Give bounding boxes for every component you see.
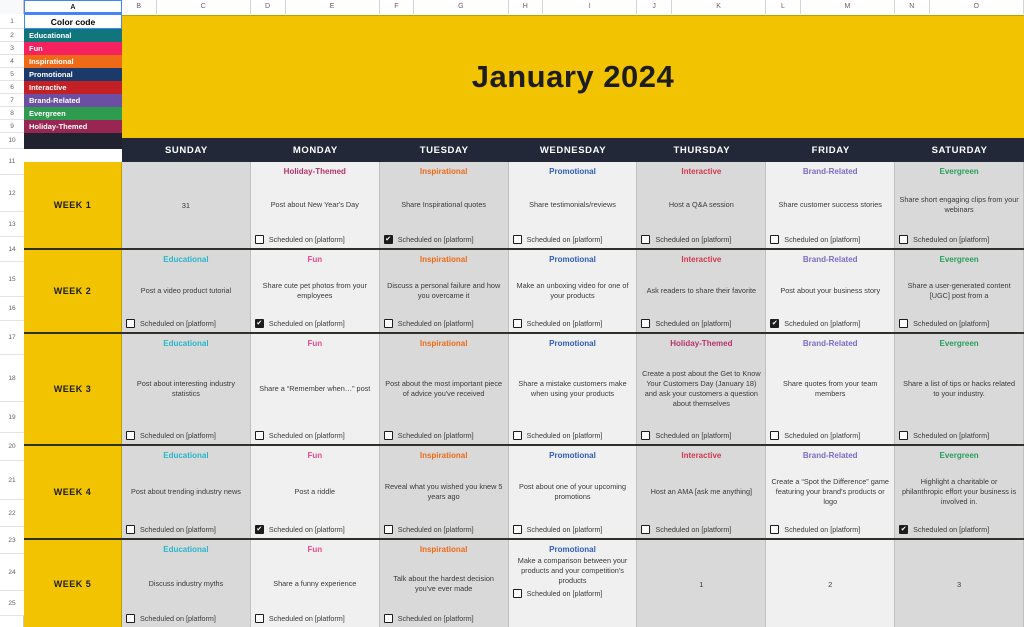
category-label: Holiday-Themed [641, 339, 761, 348]
row-number-19[interactable]: 19 [0, 402, 24, 433]
category-label: Fun [255, 255, 375, 264]
scheduled-row: Scheduled on [platform] [384, 431, 504, 440]
task-description: Share a list of tips or hacks related to… [899, 379, 1019, 399]
calendar-body: WEEK 131Holiday-ThemedPost about New Yea… [24, 162, 1024, 627]
task-description-wrap: Host a Q&A session [641, 178, 761, 232]
scheduled-checkbox[interactable] [255, 614, 264, 623]
day-cell[interactable]: InspirationalReveal what you wished you … [380, 446, 509, 538]
week-label-1[interactable]: WEEK 1 [24, 162, 122, 248]
scheduled-checkbox[interactable] [770, 525, 779, 534]
week-days: EducationalPost a video product tutorial… [122, 250, 1024, 332]
row-number-22[interactable]: 22 [0, 500, 24, 527]
task-description-wrap: Share a mistake customers make when usin… [513, 350, 633, 428]
task-description-wrap: Post about your business story [770, 266, 890, 316]
day-cell[interactable]: InteractiveAsk readers to share their fa… [637, 250, 766, 332]
scheduled-label: Scheduled on [platform] [398, 525, 474, 534]
row-number-8[interactable]: 8 [0, 107, 24, 120]
week-row: WEEK 131Holiday-ThemedPost about New Yea… [24, 162, 1024, 250]
category-label: Promotional [513, 339, 633, 348]
scheduled-label: Scheduled on [platform] [784, 235, 860, 244]
scheduled-checkbox[interactable] [513, 525, 522, 534]
week-row: WEEK 4EducationalPost about trending ind… [24, 446, 1024, 540]
weekday-header-wednesday: WEDNESDAY [509, 138, 638, 162]
category-label: Holiday-Themed [255, 167, 375, 176]
task-description: Share a user-generated content [UGC] pos… [899, 281, 1019, 301]
scheduled-row: Scheduled on [platform] [641, 525, 761, 534]
column-header-l[interactable]: L [766, 0, 801, 14]
category-label: Interactive [641, 255, 761, 264]
scheduled-label: Scheduled on [platform] [140, 525, 216, 534]
scheduled-label: Scheduled on [platform] [269, 525, 345, 534]
scheduled-checkbox[interactable] [513, 319, 522, 328]
row-number-9[interactable]: 9 [0, 120, 24, 133]
scheduled-row: Scheduled on [platform] [641, 319, 761, 328]
legend-item-fun[interactable]: Fun [24, 42, 122, 55]
column-header-c[interactable]: C [157, 0, 251, 14]
scheduled-label: Scheduled on [platform] [269, 614, 345, 623]
scheduled-checkbox[interactable] [770, 431, 779, 440]
task-description: Reveal what you wished you knew 5 years … [384, 482, 504, 502]
scheduled-label: Scheduled on [platform] [140, 614, 216, 623]
category-label: Inspirational [384, 451, 504, 460]
column-header-e[interactable]: E [286, 0, 380, 14]
scheduled-label: Scheduled on [platform] [398, 319, 474, 328]
category-label: Inspirational [384, 339, 504, 348]
day-cell[interactable]: FunPost a riddleScheduled on [platform] [251, 446, 380, 538]
task-description: Host a Q&A session [669, 200, 734, 210]
row-number-12[interactable]: 12 [0, 175, 24, 212]
task-description-wrap: Make a comparison between your products … [513, 556, 633, 586]
scheduled-label: Scheduled on [platform] [784, 431, 860, 440]
scheduled-checkbox[interactable] [255, 235, 264, 244]
task-description: Post about interesting industry statisti… [126, 379, 246, 399]
legend-item-evergreen[interactable]: Evergreen [24, 107, 122, 120]
weekday-header-monday: MONDAY [251, 138, 380, 162]
task-description: Make an unboxing video for one of your p… [513, 281, 633, 301]
task-description: Share a funny experience [273, 579, 356, 589]
scheduled-label: Scheduled on [platform] [913, 431, 989, 440]
row-number-5[interactable]: 5 [0, 68, 24, 81]
scheduled-label: Scheduled on [platform] [398, 431, 474, 440]
task-description-wrap: Share cute pet photos from your employee… [255, 266, 375, 316]
scheduled-checkbox[interactable] [641, 431, 650, 440]
day-cell[interactable]: PromotionalPost about one of your upcomi… [509, 446, 638, 538]
day-cell[interactable]: EducationalDiscuss industry mythsSchedul… [122, 540, 251, 627]
task-description: Post about one of your upcoming promotio… [513, 482, 633, 502]
weekday-header-row: SUNDAYMONDAYTUESDAYWEDNESDAYTHURSDAYFRID… [122, 138, 1024, 162]
category-label: Evergreen [899, 451, 1019, 460]
task-description-wrap: Post about interesting industry statisti… [126, 350, 246, 428]
task-description: Host an AMA [ask me anything] [651, 487, 752, 497]
column-header-n[interactable]: N [895, 0, 930, 14]
row-number-gutter[interactable]: 1234567891011121314151617181920212223242… [0, 14, 24, 627]
week-days: 31Holiday-ThemedPost about New Year's Da… [122, 162, 1024, 248]
scheduled-label: Scheduled on [platform] [140, 431, 216, 440]
day-cell[interactable]: PromotionalMake an unboxing video for on… [509, 250, 638, 332]
scheduled-checkbox[interactable] [513, 431, 522, 440]
scheduled-checkbox[interactable] [384, 319, 393, 328]
task-description-wrap: Share quotes from your team members [770, 350, 890, 428]
row-number-25[interactable]: 25 [0, 591, 24, 616]
task-description-wrap: Post a riddle [255, 462, 375, 522]
scheduled-checkbox[interactable] [255, 431, 264, 440]
scheduled-row: Scheduled on [platform] [770, 235, 890, 244]
task-description-wrap: Talk about the hardest decision you've e… [384, 556, 504, 611]
category-label: Interactive [641, 167, 761, 176]
scheduled-row: Scheduled on [platform] [513, 589, 633, 598]
day-cell[interactable]: 31 [122, 162, 251, 248]
task-description: Post about New Year's Day [271, 200, 359, 210]
scheduled-row: Scheduled on [platform] [513, 235, 633, 244]
column-header-b[interactable]: B [122, 0, 157, 14]
scheduled-label: Scheduled on [platform] [655, 525, 731, 534]
category-label: Promotional [513, 255, 633, 264]
task-description: Post a video product tutorial [141, 286, 231, 296]
row-number-4[interactable]: 4 [0, 55, 24, 68]
day-cell[interactable]: 2 [766, 540, 895, 627]
day-cell[interactable]: 3 [895, 540, 1024, 627]
task-description: Share testimonials/reviews [529, 200, 616, 210]
scheduled-checkbox[interactable] [513, 589, 522, 598]
scheduled-checkbox[interactable] [384, 525, 393, 534]
scheduled-row: Scheduled on [platform] [899, 235, 1019, 244]
scheduled-row: Scheduled on [platform] [255, 614, 375, 623]
category-label: Brand-Related [770, 451, 890, 460]
weekday-header-tuesday: TUESDAY [380, 138, 509, 162]
scheduled-row: Scheduled on [platform] [770, 525, 890, 534]
scheduled-row: Scheduled on [platform] [899, 319, 1019, 328]
weekday-header-saturday: SATURDAY [895, 138, 1024, 162]
row-number-17[interactable]: 17 [0, 321, 24, 355]
task-description: Post about your business story [780, 286, 880, 296]
task-description: Share cute pet photos from your employee… [255, 281, 375, 301]
day-cell[interactable]: InteractiveHost an AMA [ask me anything]… [637, 446, 766, 538]
scheduled-row: Scheduled on [platform] [770, 319, 890, 328]
row-number-14[interactable]: 14 [0, 237, 24, 262]
scheduled-label: Scheduled on [platform] [527, 431, 603, 440]
day-number: 2 [770, 545, 890, 623]
row-number-2[interactable]: 2 [0, 29, 24, 42]
scheduled-row: Scheduled on [platform] [384, 319, 504, 328]
day-cell[interactable]: EvergreenShare a user-generated content … [895, 250, 1024, 332]
scheduled-checkbox[interactable] [770, 235, 779, 244]
scheduled-checkbox[interactable] [384, 235, 393, 244]
scheduled-checkbox[interactable] [384, 431, 393, 440]
scheduled-label: Scheduled on [platform] [655, 431, 731, 440]
day-cell[interactable]: PromotionalMake a comparison between you… [509, 540, 638, 627]
row-number-20[interactable]: 20 [0, 433, 24, 461]
scheduled-row: Scheduled on [platform] [899, 525, 1019, 534]
color-code-legend: Color code EducationalFunInspirationalPr… [24, 14, 122, 149]
scheduled-label: Scheduled on [platform] [269, 319, 345, 328]
day-cell[interactable]: Holiday-ThemedPost about New Year's DayS… [251, 162, 380, 248]
category-label: Evergreen [899, 167, 1019, 176]
task-description-wrap: Post about one of your upcoming promotio… [513, 462, 633, 522]
scheduled-checkbox[interactable] [384, 614, 393, 623]
select-all-corner[interactable] [0, 0, 24, 14]
day-number: 1 [641, 545, 761, 623]
task-description-wrap: Create a post about the Get to Know Your… [641, 350, 761, 428]
task-description: Ask readers to share their favorite [647, 286, 757, 296]
week-row: WEEK 5EducationalDiscuss industry mythsS… [24, 540, 1024, 627]
scheduled-label: Scheduled on [platform] [913, 525, 989, 534]
scheduled-label: Scheduled on [platform] [269, 235, 345, 244]
legend-title-cell[interactable]: Color code [24, 14, 122, 29]
scheduled-row: Scheduled on [platform] [384, 614, 504, 623]
scheduled-row: Scheduled on [platform] [126, 431, 246, 440]
legend-item-holiday-themed[interactable]: Holiday-Themed [24, 120, 122, 133]
task-description: Discuss industry myths [149, 579, 224, 589]
legend-item-promotional[interactable]: Promotional [24, 68, 122, 81]
scheduled-checkbox[interactable] [126, 319, 135, 328]
task-description: Share customer success stories [779, 200, 882, 210]
column-header-f[interactable]: F [380, 0, 415, 14]
scheduled-label: Scheduled on [platform] [784, 525, 860, 534]
row-number-6[interactable]: 6 [0, 81, 24, 94]
day-cell[interactable]: PromotionalShare testimonials/reviewsSch… [509, 162, 638, 248]
scheduled-checkbox[interactable] [899, 525, 908, 534]
week-label-2[interactable]: WEEK 2 [24, 250, 122, 332]
scheduled-row: Scheduled on [platform] [126, 614, 246, 623]
row-number-16[interactable]: 16 [0, 297, 24, 321]
day-cell[interactable]: PromotionalShare a mistake customers mak… [509, 334, 638, 444]
task-description-wrap: Share a “Remember when…” post [255, 350, 375, 428]
scheduled-row: Scheduled on [platform] [255, 235, 375, 244]
legend-item-interactive[interactable]: Interactive [24, 81, 122, 94]
category-label: Inspirational [384, 545, 504, 554]
task-description: Create a “Spot the Difference” game feat… [770, 477, 890, 507]
day-cell[interactable]: EvergreenHighlight a charitable or phila… [895, 446, 1024, 538]
spreadsheet-content-calendar: ABCDEFGHIJKLMNO 123456789101112131415161… [0, 0, 1024, 627]
task-description-wrap: Reveal what you wished you knew 5 years … [384, 462, 504, 522]
day-cell[interactable]: InspirationalPost about the most importa… [380, 334, 509, 444]
scheduled-row: Scheduled on [platform] [641, 431, 761, 440]
scheduled-label: Scheduled on [platform] [913, 319, 989, 328]
category-label: Fun [255, 545, 375, 554]
column-header-m[interactable]: M [801, 0, 895, 14]
row-number-24[interactable]: 24 [0, 554, 24, 591]
task-description: Share a “Remember when…” post [259, 384, 370, 394]
category-label: Educational [126, 255, 246, 264]
day-cell[interactable]: Holiday-ThemedCreate a post about the Ge… [637, 334, 766, 444]
category-label: Brand-Related [770, 339, 890, 348]
scheduled-label: Scheduled on [platform] [655, 319, 731, 328]
task-description-wrap: Post a video product tutorial [126, 266, 246, 316]
task-description: Post a riddle [295, 487, 336, 497]
task-description-wrap: Share a funny experience [255, 556, 375, 611]
scheduled-label: Scheduled on [platform] [527, 319, 603, 328]
day-cell[interactable]: EvergreenShare a list of tips or hacks r… [895, 334, 1024, 444]
row-number-10[interactable]: 10 [0, 133, 24, 149]
category-label: Educational [126, 545, 246, 554]
scheduled-row: Scheduled on [platform] [384, 525, 504, 534]
category-label: Fun [255, 451, 375, 460]
day-cell[interactable]: EducationalPost about interesting indust… [122, 334, 251, 444]
task-description-wrap: Share short engaging clips from your web… [899, 178, 1019, 232]
task-description-wrap: Make an unboxing video for one of your p… [513, 266, 633, 316]
week-label-4[interactable]: WEEK 4 [24, 446, 122, 538]
task-description-wrap: Post about trending industry news [126, 462, 246, 522]
scheduled-label: Scheduled on [platform] [527, 235, 603, 244]
task-description-wrap: Create a “Spot the Difference” game feat… [770, 462, 890, 522]
column-header-j[interactable]: J [637, 0, 672, 14]
scheduled-checkbox[interactable] [641, 525, 650, 534]
task-description-wrap: Discuss a personal failure and how you o… [384, 266, 504, 316]
scheduled-checkbox[interactable] [126, 525, 135, 534]
day-cell[interactable]: EducationalPost a video product tutorial… [122, 250, 251, 332]
scheduled-row: Scheduled on [platform] [513, 525, 633, 534]
row-number-3[interactable]: 3 [0, 42, 24, 55]
column-header-o[interactable]: O [930, 0, 1024, 14]
task-description-wrap: Share a list of tips or hacks related to… [899, 350, 1019, 428]
task-description-wrap: Ask readers to share their favorite [641, 266, 761, 316]
task-description: Share short engaging clips from your web… [899, 195, 1019, 215]
column-header-h[interactable]: H [509, 0, 544, 14]
column-header-k[interactable]: K [672, 0, 766, 14]
day-cell[interactable]: EducationalPost about trending industry … [122, 446, 251, 538]
day-cell[interactable]: InspirationalShare Inspirational quotesS… [380, 162, 509, 248]
row-number-18[interactable]: 18 [0, 355, 24, 402]
scheduled-checkbox[interactable] [899, 235, 908, 244]
task-description: Share Inspirational quotes [401, 200, 486, 210]
category-label: Brand-Related [770, 167, 890, 176]
day-number: 3 [899, 545, 1019, 623]
day-cell[interactable]: Brand-RelatedCreate a “Spot the Differen… [766, 446, 895, 538]
day-cell[interactable]: FunShare cute pet photos from your emplo… [251, 250, 380, 332]
scheduled-label: Scheduled on [platform] [140, 319, 216, 328]
day-cell[interactable]: InteractiveHost a Q&A sessionScheduled o… [637, 162, 766, 248]
legend-item-inspirational[interactable]: Inspirational [24, 55, 122, 68]
row-number-1[interactable]: 1 [0, 14, 24, 29]
task-description: Talk about the hardest decision you've e… [384, 574, 504, 594]
scheduled-label: Scheduled on [platform] [655, 235, 731, 244]
weekday-header-friday: FRIDAY [766, 138, 895, 162]
day-cell[interactable]: InspirationalTalk about the hardest deci… [380, 540, 509, 627]
task-description-wrap: Share customer success stories [770, 178, 890, 232]
week-label-3[interactable]: WEEK 3 [24, 334, 122, 444]
category-label: Fun [255, 339, 375, 348]
legend-item-brand-related[interactable]: Brand-Related [24, 94, 122, 107]
legend-item-educational[interactable]: Educational [24, 29, 122, 42]
category-label: Promotional [513, 167, 633, 176]
scheduled-label: Scheduled on [platform] [527, 589, 603, 598]
scheduled-checkbox[interactable] [255, 525, 264, 534]
row-number-13[interactable]: 13 [0, 212, 24, 237]
column-header-a[interactable]: A [24, 0, 122, 14]
scheduled-checkbox[interactable] [899, 431, 908, 440]
scheduled-checkbox[interactable] [126, 431, 135, 440]
day-cell[interactable]: EvergreenShare short engaging clips from… [895, 162, 1024, 248]
scheduled-row: Scheduled on [platform] [126, 525, 246, 534]
legend-filler-cell [24, 133, 122, 149]
task-description-wrap: Share a user-generated content [UGC] pos… [899, 266, 1019, 316]
category-label: Promotional [513, 545, 633, 554]
weekday-header-thursday: THURSDAY [637, 138, 766, 162]
row-number-11[interactable]: 11 [0, 149, 24, 175]
task-description-wrap: Highlight a charitable or philanthropic … [899, 462, 1019, 522]
column-header-d[interactable]: D [251, 0, 286, 14]
task-description: Create a post about the Get to Know Your… [641, 369, 761, 408]
category-label: Inspirational [384, 255, 504, 264]
scheduled-row: Scheduled on [platform] [641, 235, 761, 244]
scheduled-row: Scheduled on [platform] [770, 431, 890, 440]
task-description-wrap: Share testimonials/reviews [513, 178, 633, 232]
week-row: WEEK 3EducationalPost about interesting … [24, 334, 1024, 446]
row-number-23[interactable]: 23 [0, 527, 24, 554]
day-cell[interactable]: Brand-RelatedPost about your business st… [766, 250, 895, 332]
task-description-wrap: Post about the most important piece of a… [384, 350, 504, 428]
scheduled-checkbox[interactable] [641, 319, 650, 328]
scheduled-row: Scheduled on [platform] [513, 319, 633, 328]
week-label-5[interactable]: WEEK 5 [24, 540, 122, 627]
day-cell[interactable]: Brand-RelatedShare customer success stor… [766, 162, 895, 248]
scheduled-row: Scheduled on [platform] [513, 431, 633, 440]
task-description-wrap: Discuss industry myths [126, 556, 246, 611]
week-days: EducationalPost about trending industry … [122, 446, 1024, 538]
category-label: Inspirational [384, 167, 504, 176]
task-description-wrap: Host an AMA [ask me anything] [641, 462, 761, 522]
task-description: Post about trending industry news [131, 487, 241, 497]
category-label: Interactive [641, 451, 761, 460]
scheduled-checkbox[interactable] [899, 319, 908, 328]
column-header-g[interactable]: G [414, 0, 508, 14]
scheduled-label: Scheduled on [platform] [913, 235, 989, 244]
category-label: Promotional [513, 451, 633, 460]
task-description-wrap: Post about New Year's Day [255, 178, 375, 232]
scheduled-row: Scheduled on [platform] [255, 319, 375, 328]
scheduled-row: Scheduled on [platform] [899, 431, 1019, 440]
week-row: WEEK 2EducationalPost a video product tu… [24, 250, 1024, 334]
scheduled-label: Scheduled on [platform] [269, 431, 345, 440]
day-cell[interactable]: 1 [637, 540, 766, 627]
row-number-15[interactable]: 15 [0, 262, 24, 297]
scheduled-checkbox[interactable] [126, 614, 135, 623]
category-label: Evergreen [899, 255, 1019, 264]
scheduled-checkbox[interactable] [513, 235, 522, 244]
day-cell[interactable]: Brand-RelatedShare quotes from your team… [766, 334, 895, 444]
scheduled-label: Scheduled on [platform] [784, 319, 860, 328]
task-description: Discuss a personal failure and how you o… [384, 281, 504, 301]
category-label: Educational [126, 451, 246, 460]
scheduled-checkbox[interactable] [255, 319, 264, 328]
day-cell[interactable]: FunShare a “Remember when…” postSchedule… [251, 334, 380, 444]
day-number: 31 [126, 167, 246, 244]
column-header-i[interactable]: I [543, 0, 637, 14]
row-number-7[interactable]: 7 [0, 94, 24, 107]
scheduled-label: Scheduled on [platform] [527, 525, 603, 534]
week-days: EducationalPost about interesting indust… [122, 334, 1024, 444]
scheduled-checkbox[interactable] [641, 235, 650, 244]
scheduled-label: Scheduled on [platform] [398, 614, 474, 623]
scheduled-checkbox[interactable] [770, 319, 779, 328]
task-description: Post about the most important piece of a… [384, 379, 504, 399]
task-description: Share quotes from your team members [770, 379, 890, 399]
scheduled-row: Scheduled on [platform] [384, 235, 504, 244]
scheduled-row: Scheduled on [platform] [255, 431, 375, 440]
month-banner: January 2024 [122, 15, 1024, 138]
scheduled-row: Scheduled on [platform] [126, 319, 246, 328]
task-description: Share a mistake customers make when usin… [513, 379, 633, 399]
column-header-row: ABCDEFGHIJKLMNO [0, 0, 1024, 14]
task-description-wrap: Share Inspirational quotes [384, 178, 504, 232]
row-number-21[interactable]: 21 [0, 461, 24, 500]
page-title: January 2024 [472, 59, 674, 95]
category-label: Educational [126, 339, 246, 348]
category-label: Evergreen [899, 339, 1019, 348]
scheduled-row: Scheduled on [platform] [255, 525, 375, 534]
day-cell[interactable]: InspirationalDiscuss a personal failure … [380, 250, 509, 332]
day-cell[interactable]: FunShare a funny experienceScheduled on … [251, 540, 380, 627]
